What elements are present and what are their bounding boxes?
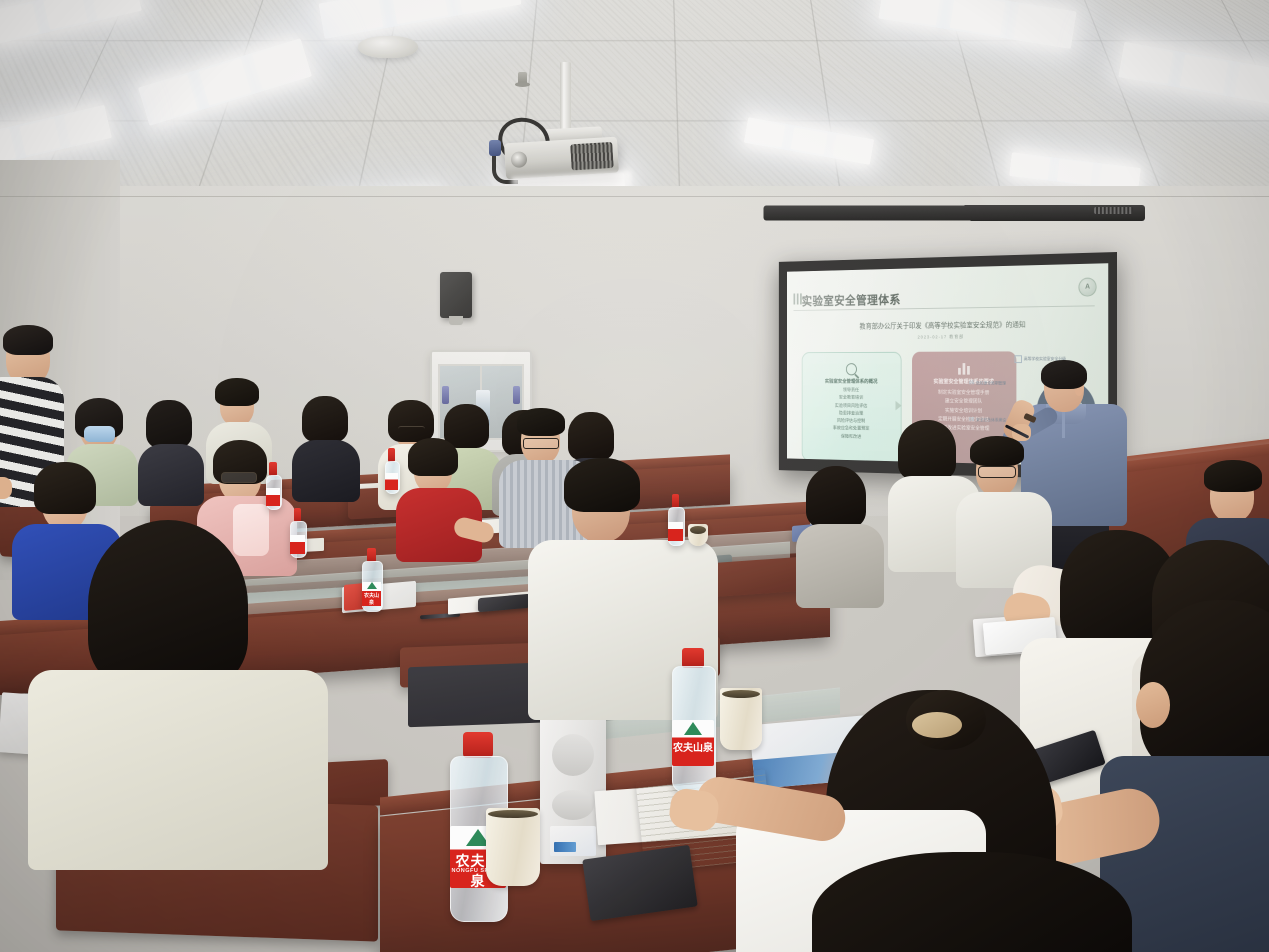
face-mask — [84, 426, 115, 442]
water-bottle[interactable] — [290, 508, 305, 556]
hair — [444, 404, 489, 448]
bottle-cap — [294, 508, 302, 522]
hair — [34, 462, 96, 514]
hair — [302, 396, 348, 442]
slide-card-left-list: 领导责任 安全教育培训 实验项目风险评估 隐患排查治理 风险评估与控制 事故应急… — [807, 387, 897, 442]
torso — [292, 440, 360, 502]
sprinkler-head — [518, 72, 527, 85]
bottle-label — [385, 473, 398, 490]
magnifier-icon — [807, 359, 897, 375]
projection-screen-roller — [764, 205, 1145, 221]
slide-card-left: 实验室安全管理体系的概况 领导责任 安全教育培训 实验项目风险评估 隐患排查治理… — [802, 352, 902, 463]
torso — [796, 524, 884, 608]
bottle-logo-mountain-icon — [684, 722, 702, 735]
bottle-brand-cn: 农夫山泉 — [672, 739, 714, 754]
bottle-cap — [672, 494, 680, 508]
glasses-icon — [523, 438, 559, 449]
hair — [806, 466, 866, 528]
donut-label-05: 05 危险源全周期管理 — [969, 380, 1006, 386]
organization-logo: A — [1078, 277, 1096, 296]
blouse-pattern — [233, 504, 269, 556]
device-logo — [554, 842, 576, 852]
hair — [812, 852, 1132, 952]
donut-label-text: 安全应急体系建设 — [976, 417, 1006, 423]
bottle-cap — [682, 648, 704, 668]
donut-label-number: 05 — [969, 380, 974, 386]
device-vent — [552, 734, 594, 776]
slide-arrow-icon — [896, 401, 902, 411]
water-bottle[interactable] — [385, 448, 398, 492]
glasses-icon — [978, 466, 1016, 478]
bottle-cap — [463, 732, 492, 758]
hair — [1204, 460, 1262, 492]
bar-chart-icon — [916, 358, 1011, 375]
meeting-room-photo: 实验室安全管理体系 A 教育部办公厅关于印发《高等学校实验室安全规范》的通知 2… — [0, 0, 1269, 952]
projector-mount-pole — [560, 62, 571, 134]
water-bottle[interactable] — [266, 462, 280, 508]
hair — [517, 408, 565, 436]
bottle-label — [290, 535, 305, 554]
bottle-label — [266, 488, 280, 506]
torso — [28, 670, 328, 870]
cabinet-handle[interactable] — [513, 386, 520, 404]
hair — [564, 458, 640, 512]
wall-ceiling-seam — [0, 196, 1269, 197]
hair — [215, 378, 259, 406]
cabinet-handle[interactable] — [442, 386, 449, 404]
slide-card-left-heading: 实验室安全管理体系的概况 — [807, 378, 897, 385]
water-bottle[interactable] — [668, 494, 683, 544]
hair — [388, 400, 434, 442]
hair — [146, 400, 192, 448]
bottle-label — [668, 522, 683, 541]
bottle-label: 农夫山泉 — [672, 720, 714, 766]
paper-cup[interactable] — [486, 808, 540, 886]
donut-label-number: 06 — [969, 417, 974, 423]
projector-lens — [511, 151, 528, 168]
bottle-cap — [269, 462, 276, 476]
hair — [88, 520, 248, 690]
smoke-detector — [358, 36, 418, 58]
paper-cup[interactable] — [720, 688, 762, 750]
wall-speaker — [440, 272, 472, 318]
glasses-icon — [398, 426, 425, 433]
white-product-box[interactable] — [344, 583, 364, 611]
glasses-icon — [221, 472, 257, 483]
donut-label-text: 危险源全周期管理 — [976, 381, 1006, 386]
hair — [3, 325, 53, 355]
slide-title: 实验室安全管理体系 — [802, 289, 901, 309]
bottle-brand-cn: 农夫山泉 — [362, 592, 381, 606]
hair — [898, 420, 956, 480]
hair — [970, 436, 1024, 466]
presenter-placket — [1062, 412, 1065, 438]
presenter-hair — [1041, 360, 1087, 389]
device-vent — [552, 790, 594, 820]
bottle-label: 农夫山泉 — [362, 582, 381, 606]
hair-tie — [912, 712, 962, 738]
bottle-logo-mountain-icon — [367, 582, 377, 589]
water-bottle[interactable]: 农夫山泉 — [672, 648, 714, 790]
donut-label-06: 06 安全应急体系建设 — [969, 417, 1006, 423]
torso — [138, 444, 204, 506]
hair — [408, 438, 458, 476]
bottle-cap — [367, 548, 377, 562]
ear — [1136, 682, 1170, 728]
projector-vent — [570, 142, 614, 171]
slide-date-line: 2023-02-17 教育部 — [787, 333, 1108, 341]
donut-label-marker — [1015, 355, 1022, 363]
projector-plug — [489, 140, 501, 156]
list-item: 保障和改进 — [807, 433, 897, 442]
water-bottle[interactable]: 农夫山泉 — [362, 548, 381, 610]
bottle-cap — [388, 448, 395, 462]
paper-cup[interactable] — [688, 524, 708, 546]
hair — [568, 412, 614, 460]
slide-subtitle: 教育部办公厅关于印发《高等学校实验室安全规范》的通知 — [787, 319, 1108, 332]
